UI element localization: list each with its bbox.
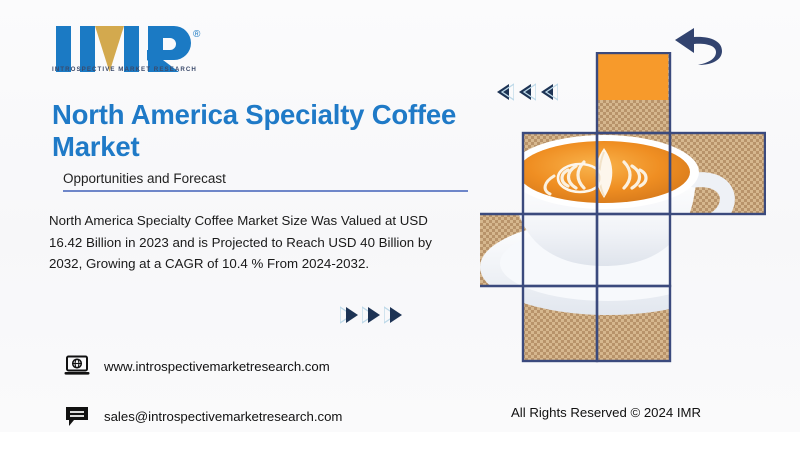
chat-bubble-icon (64, 405, 90, 427)
title-divider (63, 190, 468, 192)
website-row[interactable]: www.introspectivemarketresearch.com (64, 355, 330, 377)
website-text: www.introspectivemarketresearch.com (104, 359, 330, 374)
market-summary-text: North America Specialty Coffee Market Si… (49, 210, 449, 275)
triangle-right-icon (384, 305, 406, 325)
triangle-right-icon (362, 305, 384, 325)
page-subtitle: Opportunities and Forecast (63, 171, 493, 186)
coffee-collage (480, 52, 766, 364)
infographic-page: ® INTROSPECTIVE MARKET RESEARCH North Am… (0, 0, 800, 450)
email-row[interactable]: sales@introspectivemarketresearch.com (64, 405, 342, 427)
triangle-right-cluster (340, 305, 406, 325)
page-footer-strip (0, 432, 800, 450)
copyright-text: All Rights Reserved © 2024 IMR (511, 405, 701, 420)
svg-text:®: ® (193, 29, 201, 40)
triangle-right-icon (340, 305, 362, 325)
page-title: North America Specialty Coffee Market (52, 99, 522, 163)
laptop-globe-icon (64, 355, 90, 377)
logo-tagline: INTROSPECTIVE MARKET RESEARCH (52, 66, 202, 73)
email-text: sales@introspectivemarketresearch.com (104, 409, 342, 424)
